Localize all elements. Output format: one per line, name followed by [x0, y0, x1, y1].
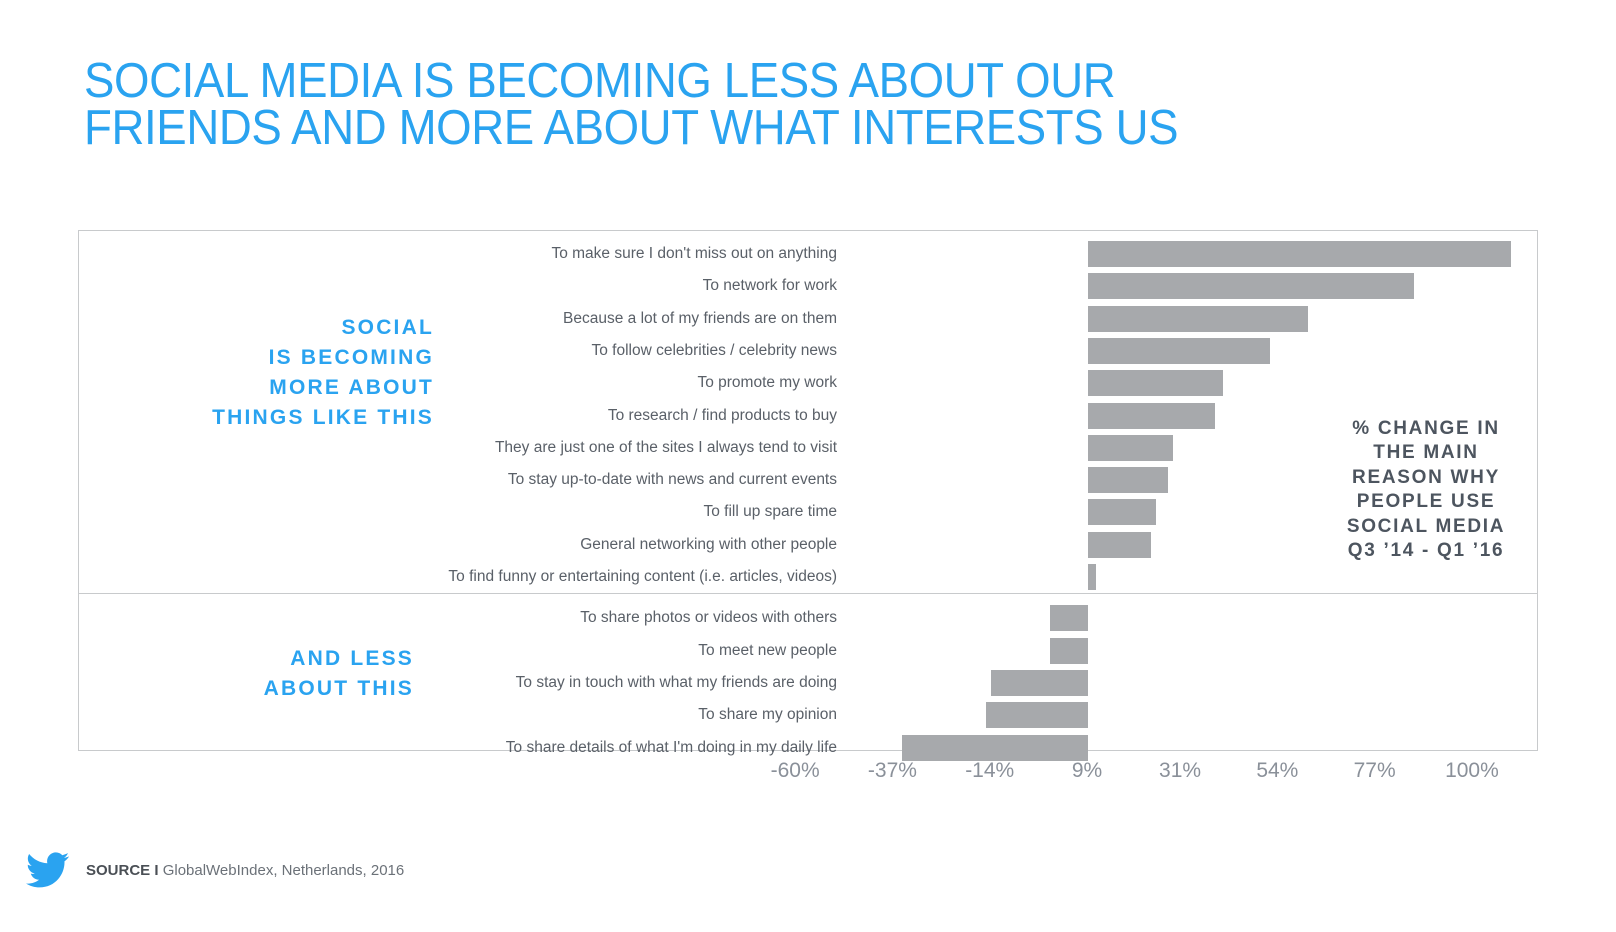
bar: [986, 702, 1088, 728]
bar: [1088, 338, 1270, 364]
chart-row: Because a lot of my friends are on them: [79, 303, 1537, 335]
category-label: To network for work: [277, 277, 837, 295]
footer: SOURCE I GlobalWebIndex, Netherlands, 20…: [26, 845, 404, 895]
axis-tick-label: -14%: [965, 759, 1014, 783]
chart-container: SOCIAL IS BECOMING MORE ABOUT THINGS LIK…: [78, 230, 1538, 751]
category-label: To follow celebrities / celebrity news: [277, 342, 837, 360]
bar: [1088, 403, 1215, 429]
chart-row: They are just one of the sites I always …: [79, 432, 1537, 464]
x-axis: -60%-37%-14%9%31%54%77%100%: [78, 751, 1538, 791]
source-value: GlobalWebIndex, Netherlands, 2016: [163, 862, 405, 879]
category-label: To promote my work: [277, 374, 837, 392]
bar: [1088, 370, 1223, 396]
bar: [1088, 273, 1414, 299]
bar: [991, 670, 1088, 696]
chart-row: General networking with other people: [79, 529, 1537, 561]
axis-tick-label: 100%: [1445, 759, 1499, 783]
chart-row: To meet new people: [79, 635, 1537, 667]
page-title: SOCIAL MEDIA IS BECOMING LESS ABOUT OUR …: [84, 58, 1293, 152]
axis-tick-label: 31%: [1159, 759, 1201, 783]
chart-row: To find funny or entertaining content (i…: [79, 561, 1537, 593]
category-label: To share my opinion: [277, 706, 837, 724]
chart-row: To make sure I don't miss out on anythin…: [79, 238, 1537, 270]
chart-row: To network for work: [79, 270, 1537, 302]
axis-tick-label: 9%: [1072, 759, 1102, 783]
chart-row: To promote my work: [79, 367, 1537, 399]
axis-tick-label: -37%: [868, 759, 917, 783]
twitter-bird-icon: [26, 850, 70, 890]
bar: [1088, 435, 1173, 461]
bar: [1088, 241, 1511, 267]
chart-row: To research / find products to buy: [79, 400, 1537, 432]
category-label: To stay up-to-date with news and current…: [277, 471, 837, 489]
bar: [1088, 499, 1156, 525]
bar: [1088, 564, 1096, 590]
source-text: SOURCE I GlobalWebIndex, Netherlands, 20…: [86, 862, 404, 879]
bar: [1088, 306, 1308, 332]
category-label: They are just one of the sites I always …: [277, 439, 837, 457]
category-label: To share photos or videos with others: [277, 609, 837, 627]
bar: [1050, 605, 1088, 631]
bar: [1088, 532, 1151, 558]
chart-row: To share photos or videos with others: [79, 602, 1537, 634]
source-label: SOURCE I: [86, 862, 159, 879]
chart-row: To stay in touch with what my friends ar…: [79, 667, 1537, 699]
bar: [1088, 467, 1168, 493]
chart-row: To follow celebrities / celebrity news: [79, 335, 1537, 367]
category-label: To fill up spare time: [277, 503, 837, 521]
chart-row: To share my opinion: [79, 699, 1537, 731]
chart-row: To stay up-to-date with news and current…: [79, 464, 1537, 496]
category-label: To meet new people: [277, 642, 837, 660]
bar: [1050, 638, 1088, 664]
axis-tick-label: 77%: [1354, 759, 1396, 783]
category-label: To stay in touch with what my friends ar…: [277, 674, 837, 692]
plot-area: To make sure I don't miss out on anythin…: [79, 231, 1537, 750]
chart-row: To fill up spare time: [79, 496, 1537, 528]
category-label: General networking with other people: [277, 536, 837, 554]
axis-tick-label: 54%: [1256, 759, 1298, 783]
category-label: To find funny or entertaining content (i…: [277, 568, 837, 586]
category-label: Because a lot of my friends are on them: [277, 310, 837, 328]
category-label: To research / find products to buy: [277, 407, 837, 425]
category-label: To make sure I don't miss out on anythin…: [277, 245, 837, 263]
axis-tick-label: -60%: [771, 759, 820, 783]
